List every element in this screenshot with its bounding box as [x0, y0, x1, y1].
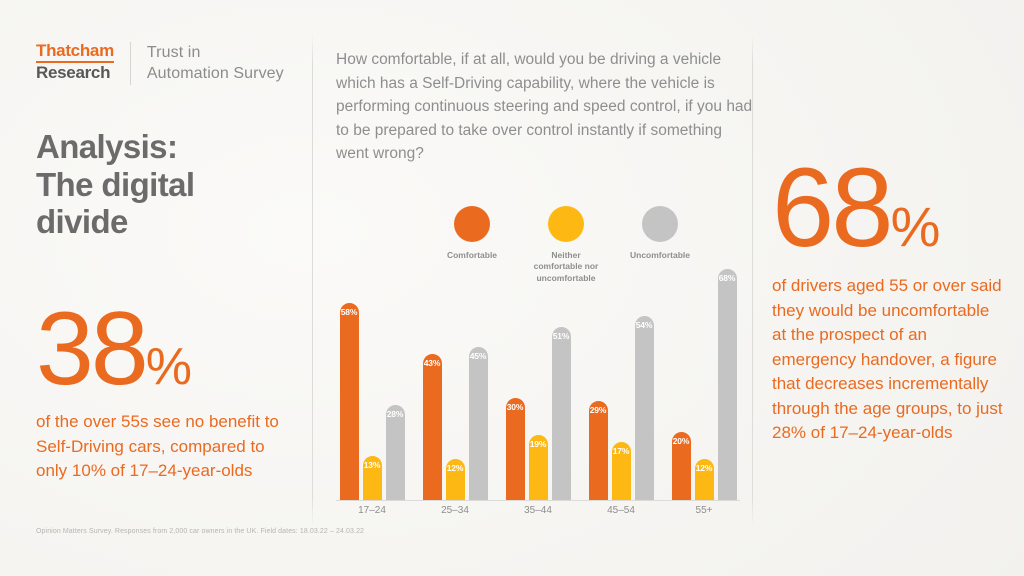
bar-value-label: 29%	[589, 405, 608, 415]
logo-separator	[130, 42, 131, 85]
logo-tagline-line2: Automation Survey	[147, 64, 284, 85]
x-axis-label: 35–44	[502, 505, 574, 516]
chart-bar: 29%	[589, 401, 608, 500]
x-axis-label: 55+	[668, 505, 740, 516]
x-axis-label: 45–54	[585, 505, 657, 516]
logo-thatcham-text: Thatcham	[36, 42, 114, 63]
page-title-line1: Analysis:	[36, 128, 292, 166]
chart-bar: 30%	[506, 398, 525, 500]
bar-value-label: 43%	[423, 358, 442, 368]
left-stat-value: 38%	[36, 305, 298, 394]
logo-wordmark: Thatcham Research	[36, 42, 130, 81]
brand-logo: Thatcham Research Trust in Automation Su…	[36, 42, 286, 85]
left-statistic: 38% of the over 55s see no benefit to Se…	[36, 305, 298, 483]
left-stat-number: 38	[36, 291, 146, 407]
bar-chart: 58%13%28%43%12%45%30%19%51%29%17%54%20%1…	[336, 262, 740, 530]
page-title-line3: divide	[36, 203, 292, 241]
chart-bar: 13%	[363, 456, 382, 500]
bar-group: 29%17%54%	[585, 262, 657, 500]
right-stat-number: 68	[772, 145, 891, 270]
x-axis-label: 17–24	[336, 505, 408, 516]
bar-value-label: 30%	[506, 402, 525, 412]
chart-bar: 28%	[386, 405, 405, 500]
bar-value-label: 19%	[529, 439, 548, 449]
chart-bar: 45%	[469, 347, 488, 500]
column-divider-left	[312, 34, 313, 526]
chart-bar: 19%	[529, 435, 548, 500]
source-footnote: Opinion Matters Survey. Responses from 2…	[36, 528, 364, 535]
legend-color-swatch	[548, 206, 584, 242]
logo-tagline: Trust in Automation Survey	[147, 42, 284, 85]
bar-group: 20%12%68%	[668, 262, 740, 500]
right-stat-description: of drivers aged 55 or over said they wou…	[772, 274, 1004, 445]
legend-label-line: Uncomfortable	[624, 250, 696, 261]
bar-value-label: 51%	[552, 331, 571, 341]
page-title: Analysis: The digital divide	[36, 128, 292, 241]
bar-value-label: 58%	[340, 307, 359, 317]
logo-research-text: Research	[36, 64, 114, 82]
bar-value-label: 68%	[718, 273, 737, 283]
bar-group: 58%13%28%	[336, 262, 408, 500]
legend-color-swatch	[642, 206, 678, 242]
x-axis-label: 25–34	[419, 505, 491, 516]
chart-bar: 17%	[612, 442, 631, 500]
bar-group: 43%12%45%	[419, 262, 491, 500]
bar-value-label: 17%	[612, 446, 631, 456]
legend-color-swatch	[454, 206, 490, 242]
infographic-canvas: Thatcham Research Trust in Automation Su…	[0, 0, 1024, 576]
left-stat-percent-sign: %	[146, 338, 191, 396]
page-title-line2: The digital	[36, 166, 292, 204]
legend-item-label: Comfortable	[436, 250, 508, 261]
legend-item-label: Uncomfortable	[624, 250, 696, 261]
chart-bar: 20%	[672, 432, 691, 500]
right-stat-value: 68%	[772, 160, 1004, 256]
right-statistic: 68% of drivers aged 55 or over said they…	[772, 160, 1004, 446]
right-stat-percent-sign: %	[891, 195, 940, 258]
left-stat-description: of the over 55s see no benefit to Self-D…	[36, 410, 298, 482]
bar-value-label: 12%	[695, 463, 714, 473]
bar-value-label: 28%	[386, 409, 405, 419]
chart-bar: 51%	[552, 327, 571, 500]
chart-bar: 43%	[423, 354, 442, 500]
survey-question: How comfortable, if at all, would you be…	[336, 48, 756, 166]
bar-value-label: 13%	[363, 460, 382, 470]
chart-bar: 58%	[340, 303, 359, 500]
chart-bar: 12%	[446, 459, 465, 500]
logo-tagline-line1: Trust in	[147, 43, 284, 64]
chart-baseline-axis	[336, 500, 740, 501]
bar-value-label: 20%	[672, 436, 691, 446]
chart-bar: 68%	[718, 269, 737, 500]
legend-label-line: Neither	[530, 250, 602, 261]
bar-value-label: 45%	[469, 351, 488, 361]
chart-x-axis-labels: 17–2425–3435–4445–5455+	[336, 505, 740, 516]
chart-bar: 12%	[695, 459, 714, 500]
legend-label-line: Comfortable	[436, 250, 508, 261]
chart-bar: 54%	[635, 316, 654, 500]
bar-value-label: 12%	[446, 463, 465, 473]
bar-group: 30%19%51%	[502, 262, 574, 500]
chart-plot-area: 58%13%28%43%12%45%30%19%51%29%17%54%20%1…	[336, 262, 740, 500]
bar-value-label: 54%	[635, 320, 654, 330]
